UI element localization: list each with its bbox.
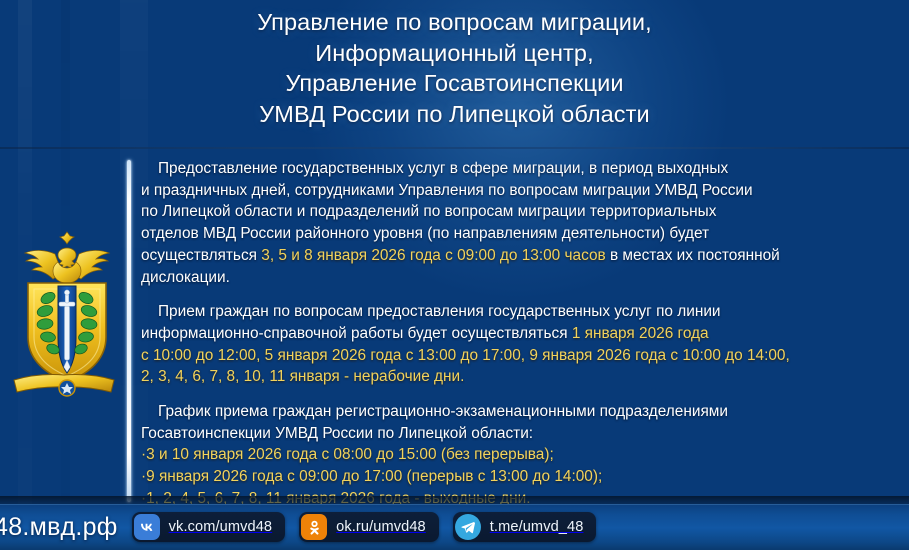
highlighted-schedule-text: 2, 3, 4, 6, 7, 8, 10, 11 января - нерабо…	[141, 368, 464, 385]
header-divider	[0, 147, 909, 149]
body-text: Госавтоинспекции УМВД России по Липецкой…	[141, 425, 533, 442]
body-text: осуществляться	[141, 247, 261, 264]
title-line-3: Управление Госавтоинспекции	[0, 68, 909, 99]
body-text: и праздничных дней, сотрудниками Управле…	[141, 182, 753, 199]
mvd-lipetsk-emblem-icon	[8, 228, 126, 408]
paragraph-line: и праздничных дней, сотрудниками Управле…	[141, 180, 903, 202]
body-text: в местах их постоянной	[606, 247, 780, 264]
body-text: дислокации.	[141, 269, 230, 286]
title-line-2: Информационный центр,	[0, 38, 909, 69]
paragraph-line: График приема граждан регистрационно-экз…	[141, 401, 903, 423]
schedule-bullet-line: ·3 и 10 января 2026 года с 08:00 до 15:0…	[141, 444, 903, 466]
vk-icon	[134, 514, 160, 540]
highlighted-schedule-text: ·3 и 10 января 2026 года с 08:00 до 15:0…	[141, 446, 554, 463]
social-label-telegram: t.me/umvd_48	[490, 519, 584, 535]
body-text: Прием граждан по вопросам предоставления…	[158, 303, 721, 320]
social-link-odnoklassniki[interactable]: ok.ru/umvd48	[299, 512, 439, 542]
paragraph-line: осуществляться 3, 5 и 8 января 2026 года…	[141, 245, 903, 267]
social-label-vk: vk.com/umvd48	[169, 519, 273, 535]
poster-root: Управление по вопросам миграции, Информа…	[0, 0, 909, 550]
footer-bar: 48.мвд.рф vk.com/umvd48 ok.ru/umvd48	[0, 504, 909, 550]
highlighted-schedule-text: 1 января 2026 года	[572, 325, 709, 342]
paragraph-line: отделов МВД России районного уровня (по …	[141, 223, 903, 245]
schedule-bullet-line: ·9 января 2026 года с 09:00 до 17:00 (пе…	[141, 466, 903, 488]
paragraph-line: 2, 3, 4, 6, 7, 8, 10, 11 января - нерабо…	[141, 366, 903, 388]
highlighted-schedule-text: с 10:00 до 12:00, 5 января 2026 года с 1…	[141, 347, 790, 364]
body-text: по Липецкой области и подразделений по в…	[141, 203, 716, 220]
odnoklassniki-icon	[301, 514, 327, 540]
body-text: График приема граждан регистрационно-экз…	[158, 403, 728, 420]
vertical-accent-bar	[127, 160, 131, 502]
page-title: Управление по вопросам миграции, Информа…	[0, 0, 909, 148]
title-line-1: Управление по вопросам миграции,	[0, 7, 909, 38]
body-text: информационно-справочной работы будет ос…	[141, 325, 572, 342]
paragraph-line: дислокации.	[141, 267, 903, 289]
paragraph-traffic-police: График приема граждан регистрационно-экз…	[141, 401, 903, 510]
paragraph-line: Предоставление государственных услуг в с…	[141, 158, 903, 180]
paragraph-line: информационно-справочной работы будет ос…	[141, 323, 903, 345]
social-link-telegram[interactable]: t.me/umvd_48	[453, 512, 597, 542]
paragraph-info-center: Прием граждан по вопросам предоставления…	[141, 301, 903, 388]
body-text: Предоставление государственных услуг в с…	[158, 160, 728, 177]
highlighted-schedule-text: ·9 января 2026 года с 09:00 до 17:00 (пе…	[141, 468, 602, 485]
paragraph-line: Прием граждан по вопросам предоставления…	[141, 301, 903, 323]
footer-top-strip	[0, 496, 909, 504]
highlighted-schedule-text: 3, 5 и 8 января 2026 года с 09:00 до 13:…	[261, 247, 605, 264]
social-link-vk[interactable]: vk.com/umvd48	[132, 512, 286, 542]
paragraph-line: Госавтоинспекции УМВД России по Липецкой…	[141, 423, 903, 445]
telegram-icon	[455, 514, 481, 540]
announcement-body: Предоставление государственных услуг в с…	[141, 158, 903, 510]
paragraph-line: по Липецкой области и подразделений по в…	[141, 201, 903, 223]
social-label-odnoklassniki: ok.ru/umvd48	[336, 519, 426, 535]
site-domain-label: 48.мвд.рф	[0, 513, 132, 542]
title-line-4: УМВД России по Липецкой области	[0, 99, 909, 130]
body-text: отделов МВД России районного уровня (по …	[141, 225, 709, 242]
paragraph-migration: Предоставление государственных услуг в с…	[141, 158, 903, 288]
paragraph-line: с 10:00 до 12:00, 5 января 2026 года с 1…	[141, 345, 903, 367]
